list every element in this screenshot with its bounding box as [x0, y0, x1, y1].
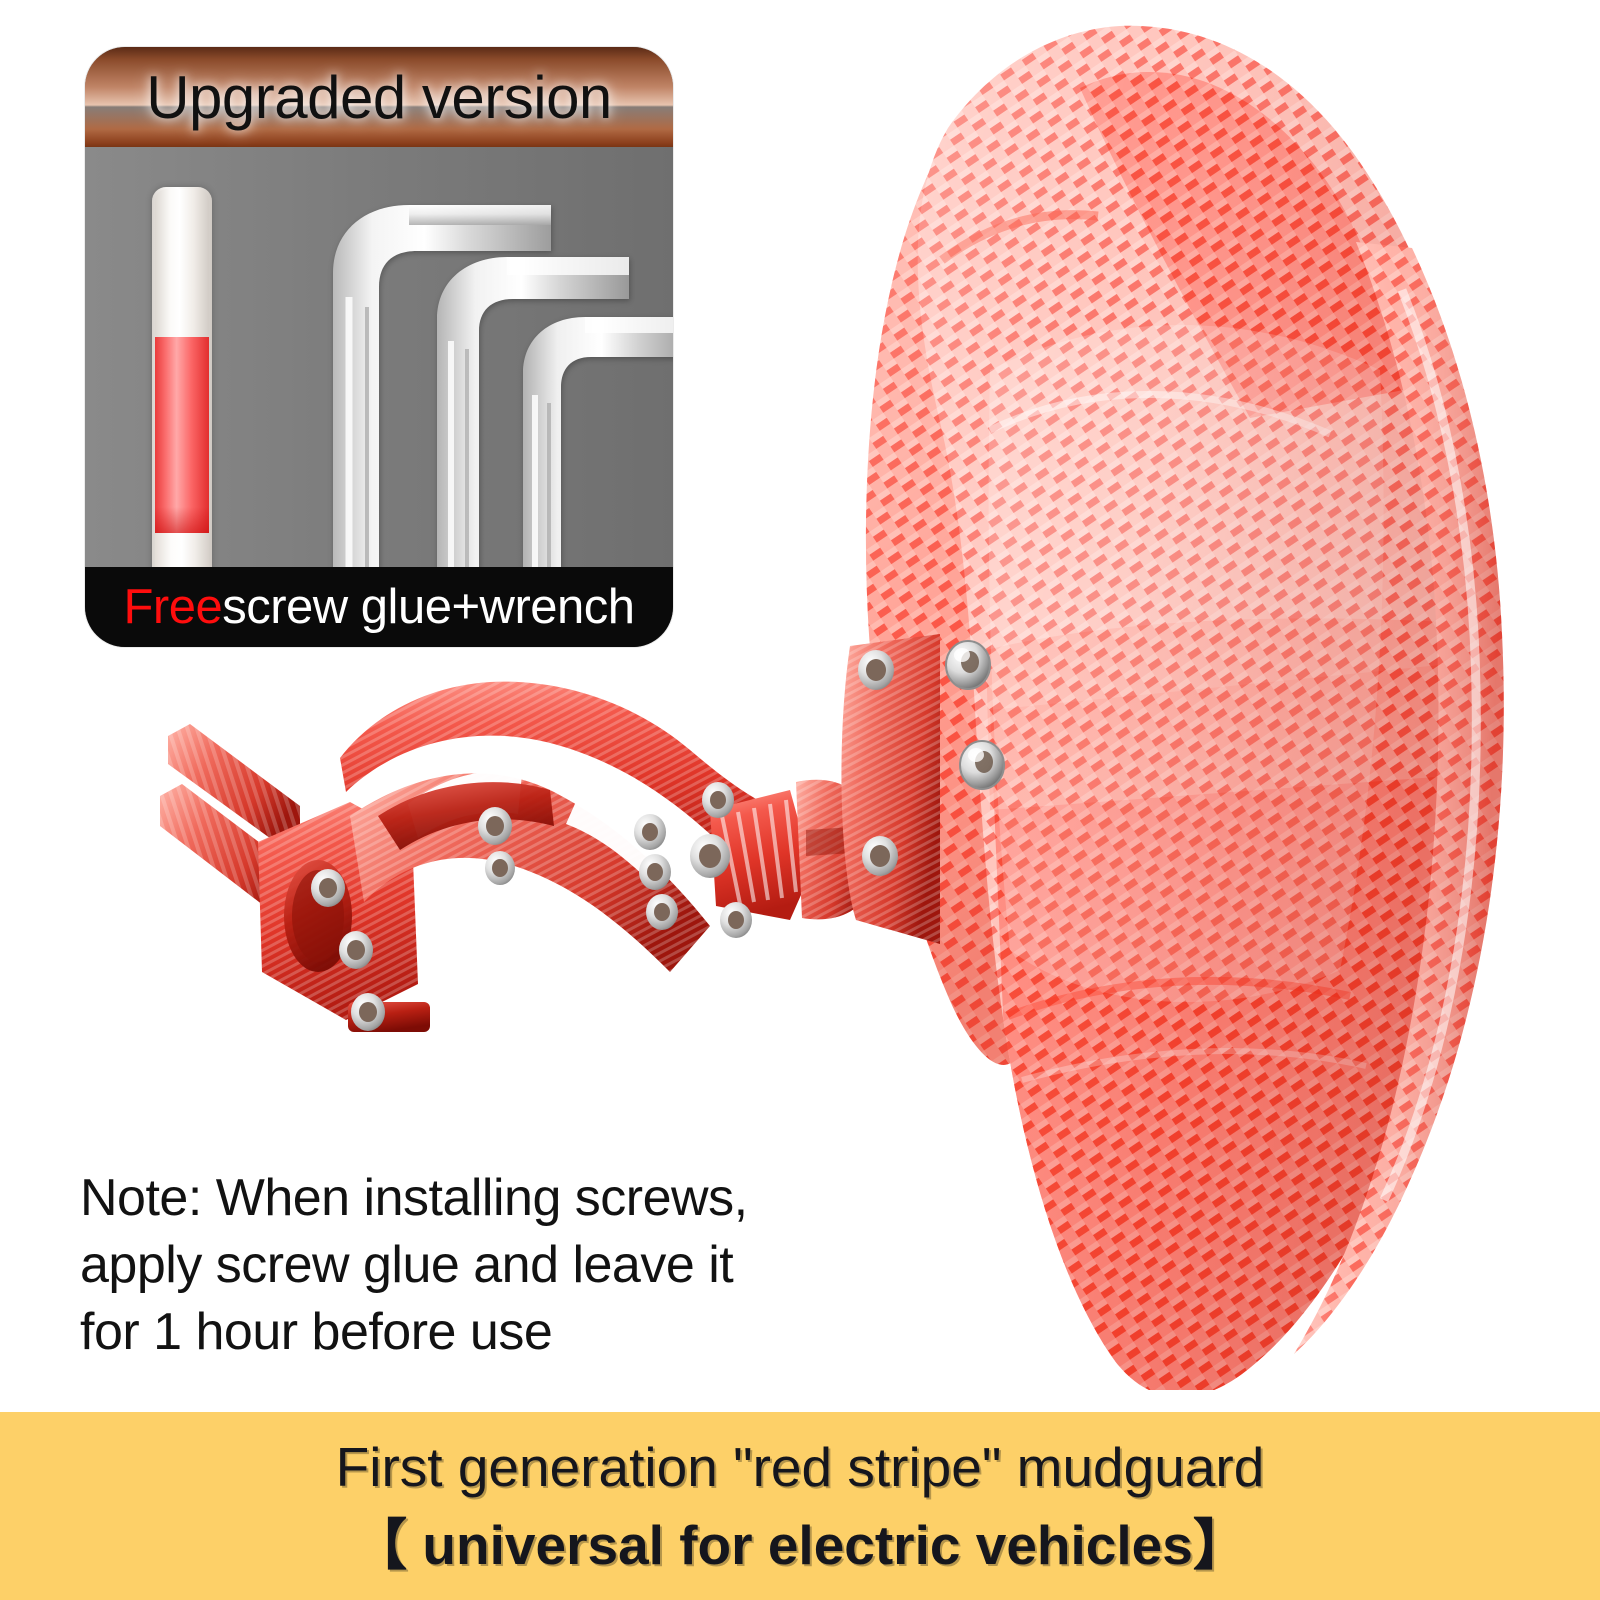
badge-items-label: screw glue+wrench — [222, 579, 634, 635]
hex-wrench-small-icon — [515, 295, 673, 579]
badge-footer-bar: Free screw glue+wrench — [85, 567, 673, 647]
caption-line-1: First generation "red stripe" mudguard — [336, 1428, 1265, 1506]
product-caption-banner: First generation "red stripe" mudguard 【… — [0, 1412, 1600, 1600]
product-image-canvas: Upgraded version — [0, 0, 1600, 1600]
note-line-3: for 1 hour before use — [80, 1299, 870, 1366]
note-line-1: Note: When installing screws, — [80, 1165, 870, 1232]
badge-contents-panel — [85, 147, 673, 567]
upgraded-version-badge: Upgraded version — [85, 47, 673, 647]
mudguard-face-screw-upper — [946, 641, 990, 689]
mount-bracket-illustration — [150, 620, 940, 1040]
badge-free-label: Free — [123, 579, 222, 635]
mudguard-face-screw-lower — [960, 741, 1004, 789]
badge-title: Upgraded version — [85, 47, 673, 147]
screw-glue-tube-icon — [152, 187, 212, 587]
note-line-2: apply screw glue and leave it — [80, 1232, 870, 1299]
installation-note: Note: When installing screws, apply scre… — [80, 1165, 870, 1366]
caption-line-2: 【 universal for electric vehicles】 — [352, 1506, 1248, 1584]
